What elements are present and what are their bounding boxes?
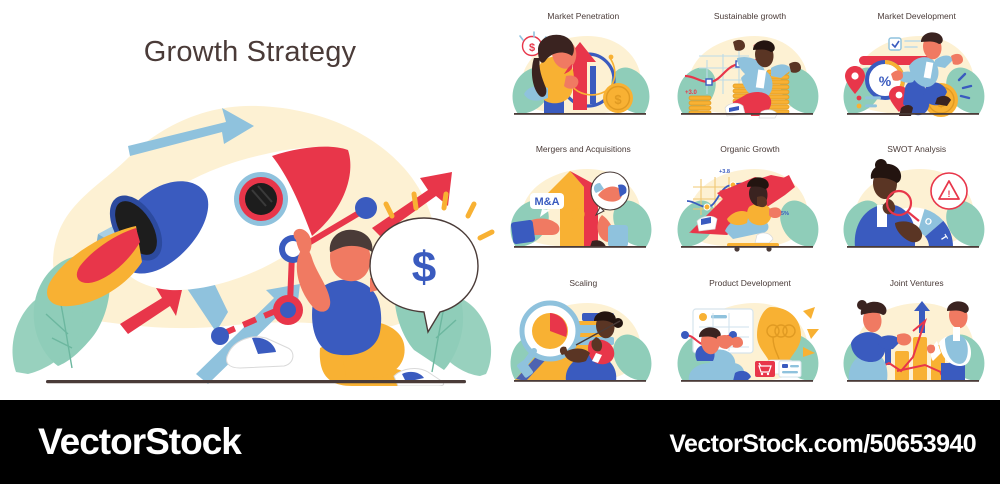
string-knob [609,55,614,60]
ground-line [514,380,646,382]
panel-joint-ventures[interactable]: Joint Ventures [833,267,1000,400]
panel-title: Product Development [667,278,834,288]
panel-title: Market Development [833,11,1000,21]
panel-title: Mergers and Acquisitions [500,144,667,154]
alert-exclamation-label: ! [948,189,951,199]
ground-line [514,246,646,248]
ma-label: M&A [534,196,559,208]
page-title: Growth Strategy [0,36,500,69]
panel-artwork: $ $ [504,24,656,124]
panel-artwork [671,291,823,391]
hero-artwork: $ [0,86,500,386]
hero-illustration: Growth Strategy [0,0,500,400]
percent-label: % [879,73,892,89]
coin-dollar-label: $ [614,92,622,107]
panel-scaling[interactable]: Scaling [500,267,667,400]
panel-market-penetration[interactable]: Market Penetration $ $ [500,0,667,133]
blue-bar [590,66,596,104]
chart-label: +3.8 [719,169,730,175]
ground-line [847,246,979,248]
ground-line [847,380,979,382]
panel-product-development[interactable]: Product Development [667,267,834,400]
panel-title: Joint Ventures [833,278,1000,288]
panel-sustainable-growth[interactable]: Sustainable growth +2.5 +3.0 [667,0,834,133]
watermark-bar: VectorStock VectorStock.com/50653940 [0,400,1000,484]
panel-mergers-and-acquisitions[interactable]: Mergers and Acquisitions [500,133,667,266]
ground-line [514,113,646,115]
panel-title: Market Penetration [500,11,667,21]
panel-title: SWOT Analysis [833,144,1000,154]
panel-artwork [504,291,656,391]
panel-title: Sustainable growth [667,11,834,21]
panel-market-development[interactable]: Market Development % [833,0,1000,133]
checklist-icon [889,38,901,50]
panel-artwork: +3.8 +2.5% [671,157,823,257]
panel-artwork: S W O T [837,157,989,257]
ground-line [681,246,813,248]
chart-point [706,79,712,85]
warning-alert-icon: ! [931,173,967,209]
panel-title: Organic Growth [667,144,834,154]
vectorstock-logo: VectorStock [38,421,241,463]
vectorstock-url: VectorStock.com/50653940 [669,430,976,459]
panel-artwork: +2.5 +3.0 [671,24,823,124]
ground-line [681,113,813,115]
dollar-symbol: $ [412,243,436,292]
panel-title: Scaling [500,278,667,288]
panel-artwork: % $ [837,24,989,124]
chart-point [704,204,710,210]
chart-label-low: +3.0 [685,90,698,96]
panel-swot-analysis[interactable]: SWOT Analysis S W O T [833,133,1000,266]
panel-artwork: M&A [504,157,656,257]
ground-line [681,380,813,382]
ground-line [46,380,466,383]
ground-line [847,113,979,115]
panel-artwork [837,291,989,391]
badge-dollar-label: $ [529,42,535,54]
strategy-panel-grid: Market Penetration $ $ [500,0,1000,400]
panel-organic-growth[interactable]: Organic Growth +3.8 +2.5% [667,133,834,266]
illustration-canvas: Growth Strategy [0,0,1000,484]
